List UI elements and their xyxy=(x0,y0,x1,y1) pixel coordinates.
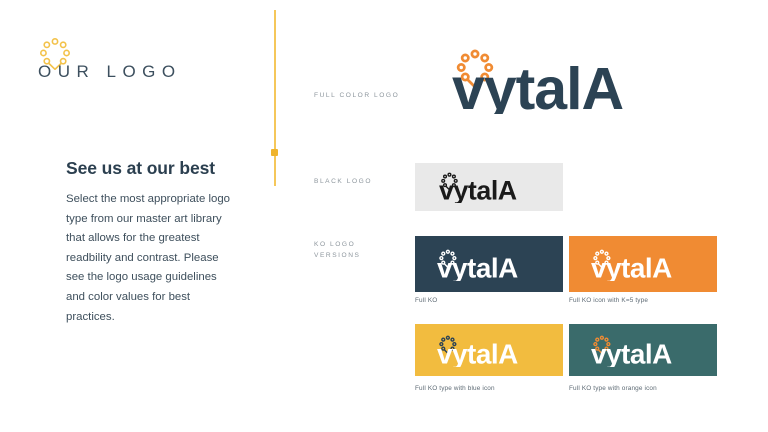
vytala-logo-full-color: vytalA xyxy=(452,48,672,114)
svg-text:vytalA: vytalA xyxy=(591,338,672,366)
caption-ko-icon-k5-type: Full KO icon with K=5 type xyxy=(569,297,648,304)
svg-text:vytalA: vytalA xyxy=(591,252,672,280)
black-logo-specimen: vytalA xyxy=(415,163,563,211)
label-ko-line1: KO LOGO xyxy=(314,241,355,248)
vytala-logo-white-type-orange-icon: vytalA xyxy=(591,334,695,367)
full-ko-specimen: vytalA xyxy=(415,236,563,292)
slide-canvas: OUR LOGO See us at our best Select the m… xyxy=(0,0,768,432)
label-ko-line2: VERSIONS xyxy=(314,252,360,259)
vytala-logo-black: vytalA xyxy=(439,171,539,203)
caption-ko-type-orange-icon: Full KO type with orange icon xyxy=(569,385,657,392)
svg-text:vytalA: vytalA xyxy=(439,176,517,203)
vytala-logo-ko-on-orange: vytalA xyxy=(591,248,695,281)
svg-text:vytalA: vytalA xyxy=(437,338,518,366)
vertical-divider xyxy=(274,10,276,186)
svg-text:vytalA: vytalA xyxy=(452,56,623,114)
caption-ko-type-blue-icon: Full KO type with blue icon xyxy=(415,385,495,392)
svg-text:vytalA: vytalA xyxy=(437,252,518,280)
label-black-logo: BLACK LOGO xyxy=(314,176,372,187)
ko-icon-k5-type-specimen: vytalA xyxy=(569,236,717,292)
lead-heading: See us at our best xyxy=(66,158,266,179)
label-full-color-logo: FULL COLOR LOGO xyxy=(314,90,399,101)
divider-dot-marker xyxy=(271,149,278,156)
lead-body-text: Select the most appropriate logo type fr… xyxy=(66,190,232,327)
label-ko-logo-versions: KO LOGO VERSIONS xyxy=(314,239,360,261)
ko-type-orange-icon-specimen: vytalA xyxy=(569,324,717,376)
vytala-logo-white-type-navy-icon: vytalA xyxy=(437,334,541,367)
ko-type-blue-icon-specimen: vytalA xyxy=(415,324,563,376)
vytala-logo-ko-white: vytalA xyxy=(437,248,541,281)
page-title: OUR LOGO xyxy=(38,62,182,82)
caption-full-ko: Full KO xyxy=(415,297,437,304)
full-color-logo-specimen: vytalA xyxy=(452,48,672,114)
